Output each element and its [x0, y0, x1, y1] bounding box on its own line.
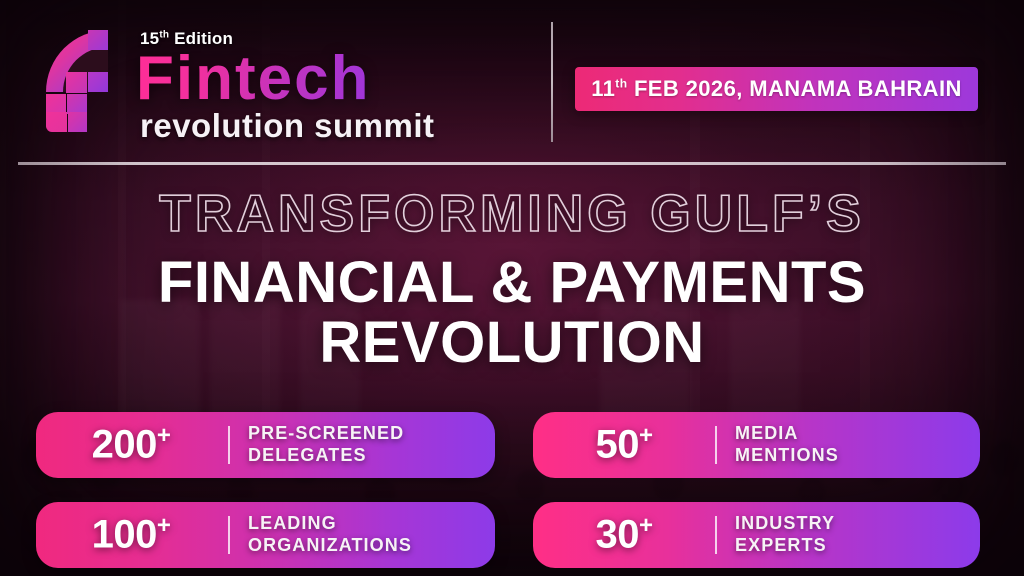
- headline-outline-line: TRANSFORMING GULF’S: [0, 186, 1024, 242]
- stat-card-delegates[interactable]: 200+ PRE-SCREENED DELEGATES: [36, 412, 495, 478]
- logo-block-bottom-left: [46, 112, 67, 132]
- logo-block-top-right: [88, 30, 108, 50]
- promo-banner: 15th Edition Fintech revolution summit 1…: [0, 0, 1024, 576]
- headline-solid-group: FINANCIAL & PAYMENTS REVOLUTION: [0, 252, 1024, 373]
- statistics-group: 200+ PRE-SCREENED DELEGATES 100+ LEADING…: [0, 408, 1024, 576]
- headline-solid-line-1: FINANCIAL & PAYMENTS: [158, 250, 866, 315]
- logo-block-mid-right: [88, 72, 108, 92]
- edition-ordinal-suffix: th: [159, 29, 169, 40]
- stat-label-line-2: MENTIONS: [735, 445, 839, 467]
- stat-divider: [228, 426, 230, 464]
- stat-label-line-1: LEADING: [248, 513, 412, 535]
- stat-label: MEDIA MENTIONS: [735, 423, 839, 467]
- brand-wordmark: Fintech: [136, 50, 435, 107]
- stat-divider: [715, 516, 717, 554]
- stat-card-media-mentions[interactable]: 50+ MEDIA MENTIONS: [533, 412, 980, 478]
- event-logo: 15th Edition Fintech revolution summit: [46, 28, 435, 142]
- header-vertical-divider: [551, 22, 553, 142]
- stat-plus-sign: +: [157, 512, 171, 539]
- stat-divider: [228, 516, 230, 554]
- stat-number: 30+: [535, 512, 713, 557]
- stat-plus-sign: +: [639, 512, 653, 539]
- headline-solid-line-2: REVOLUTION: [0, 312, 1024, 373]
- stat-label: PRE-SCREENED DELEGATES: [248, 423, 404, 467]
- stat-number: 50+: [535, 422, 713, 467]
- logo-block-stem-right: [67, 94, 87, 114]
- stat-label-line-2: EXPERTS: [735, 535, 835, 557]
- logo-block-stem-left: [46, 94, 66, 114]
- headline-group: TRANSFORMING GULF’S FINANCIAL & PAYMENTS…: [0, 186, 1024, 373]
- event-date-location-badge: 11th FEB 2026, MANAMA BAHRAIN: [575, 67, 978, 111]
- stat-label-line-1: INDUSTRY: [735, 513, 835, 535]
- stat-plus-sign: +: [639, 422, 653, 449]
- header-horizontal-divider: [18, 162, 1006, 165]
- fintech-f-logo-icon: [46, 28, 124, 132]
- stat-label: INDUSTRY EXPERTS: [735, 513, 835, 557]
- stat-plus-sign: +: [157, 422, 171, 449]
- stat-divider: [715, 426, 717, 464]
- stat-label-line-1: PRE-SCREENED: [248, 423, 404, 445]
- logo-block-mid-left: [66, 72, 87, 93]
- logo-text-group: 15th Edition Fintech revolution summit: [138, 28, 435, 142]
- event-date-location-text: 11th FEB 2026, MANAMA BAHRAIN: [591, 76, 962, 102]
- logo-block-bottom-right: [68, 112, 87, 132]
- stat-number: 100+: [36, 512, 226, 557]
- stat-label-line-1: MEDIA: [735, 423, 839, 445]
- stat-label-line-2: ORGANIZATIONS: [248, 535, 412, 557]
- stat-card-industry-experts[interactable]: 30+ INDUSTRY EXPERTS: [533, 502, 980, 568]
- stat-label-line-2: DELEGATES: [248, 445, 404, 467]
- banner-header: 15th Edition Fintech revolution summit 1…: [0, 0, 1024, 163]
- stat-card-organizations[interactable]: 100+ LEADING ORGANIZATIONS: [36, 502, 495, 568]
- brand-sub-wordmark: revolution summit: [140, 109, 435, 142]
- date-ordinal-suffix: th: [615, 77, 627, 91]
- stat-label: LEADING ORGANIZATIONS: [248, 513, 412, 557]
- stat-number: 200+: [36, 422, 226, 467]
